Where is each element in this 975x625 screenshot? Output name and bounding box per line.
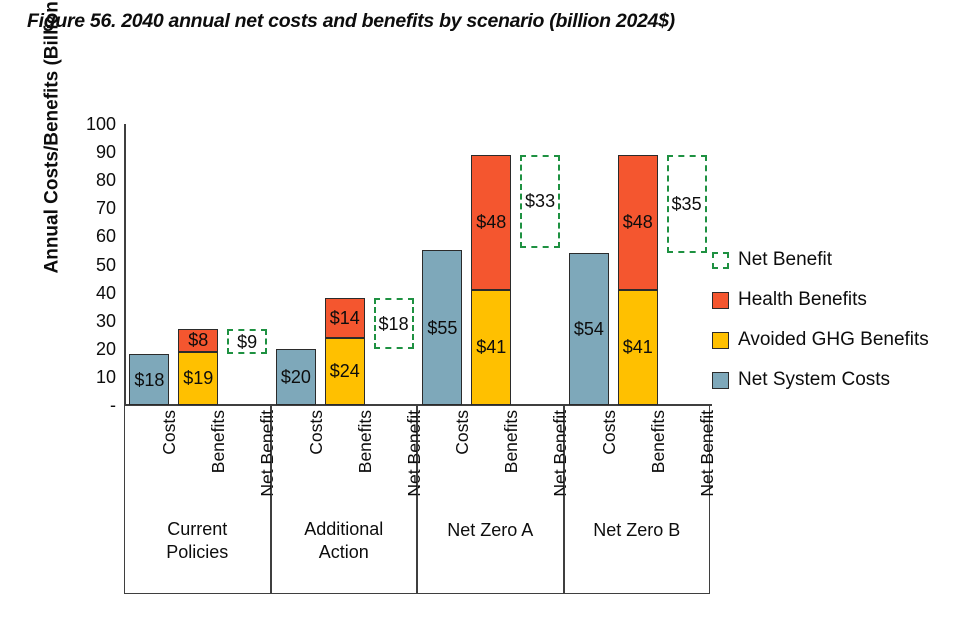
net-benefit-box: $18	[374, 298, 414, 349]
scenario-group-label-line: Action	[272, 541, 417, 564]
bar-net-system-costs: $54	[569, 253, 609, 405]
legend-label: Avoided GHG Benefits	[738, 329, 929, 351]
legend-label: Net Benefit	[738, 249, 832, 271]
chart-figure: Annual Costs/Benefits (Billion $) 100908…	[0, 0, 975, 625]
bar-net-system-costs: $20	[276, 349, 316, 405]
category-tick-label: Benefits	[207, 410, 229, 530]
legend-swatch-icon	[712, 292, 729, 309]
category-tick-label: Benefits	[500, 410, 522, 530]
scenario-group-label-line: Additional	[272, 518, 417, 541]
bar-avoided-ghg-benefits: $41	[471, 290, 511, 405]
y-axis-tick-label: 10	[56, 368, 116, 386]
bar-avoided-ghg-benefits: $41	[618, 290, 658, 405]
scenario-group-label: Net Zero A	[418, 519, 563, 542]
bar-value-label: $41	[623, 338, 653, 356]
bar-value-label: $48	[623, 213, 653, 231]
legend-swatch-icon	[712, 252, 729, 269]
y-axis-tick-label: 40	[56, 284, 116, 302]
bar-avoided-ghg-benefits: $19	[178, 352, 218, 405]
bar-value-label: $24	[330, 362, 360, 380]
net-benefit-box: $33	[520, 155, 560, 248]
scenario-group-label-line: Current	[125, 518, 270, 541]
bar-value-label: $41	[476, 338, 506, 356]
y-axis-tick-label: 50	[56, 256, 116, 274]
bar-value-label: $54	[574, 320, 604, 338]
bar-net-system-costs: $18	[129, 354, 169, 405]
y-axis-tick-label: 70	[56, 199, 116, 217]
scenario-group: CostsBenefitsNet BenefitNet Zero B	[564, 406, 711, 594]
legend-swatch-icon	[712, 332, 729, 349]
scenario-group-label-line: Policies	[125, 541, 270, 564]
category-tick-label: Benefits	[647, 410, 669, 530]
category-tick-label: Net Benefit	[696, 410, 718, 530]
bar-health-benefits: $8	[178, 329, 218, 351]
net-benefit-value-label: $33	[525, 192, 555, 210]
y-axis-tick-label: 80	[56, 171, 116, 189]
bar-avoided-ghg-benefits: $24	[325, 338, 365, 405]
y-axis-tick-label: 100	[56, 115, 116, 133]
bar-health-benefits: $14	[325, 298, 365, 337]
net-benefit-box: $35	[667, 155, 707, 253]
bar-health-benefits: $48	[618, 155, 658, 290]
legend-label: Health Benefits	[738, 289, 867, 311]
y-axis-tick-label: 60	[56, 227, 116, 245]
bar-value-label: $19	[183, 369, 213, 387]
net-benefit-box: $9	[227, 329, 267, 354]
bar-net-system-costs: $55	[422, 250, 462, 405]
plot-area: $18$19$8$9$20$24$14$18$55$41$48$33$54$41…	[124, 124, 710, 405]
scenario-group-label: AdditionalAction	[272, 518, 417, 563]
category-tick-label: Costs	[451, 410, 473, 530]
legend-item[interactable]: Net Benefit	[712, 240, 962, 280]
scenario-group: CostsBenefitsNet BenefitAdditionalAction	[271, 406, 418, 594]
y-axis-tick-label: -	[56, 396, 116, 414]
net-benefit-value-label: $9	[237, 333, 257, 351]
y-axis-tick-labels: 100908070605040302010-	[56, 112, 116, 412]
legend-label: Net System Costs	[738, 369, 890, 391]
scenario-group-label: CurrentPolicies	[125, 518, 270, 563]
y-axis-tick-label: 30	[56, 312, 116, 330]
category-tick-label: Benefits	[354, 410, 376, 530]
category-tick-label: Costs	[305, 410, 327, 530]
y-axis-tick-label: 90	[56, 143, 116, 161]
net-benefit-value-label: $18	[379, 315, 409, 333]
legend-item[interactable]: Net System Costs	[712, 360, 962, 400]
bar-value-label: $48	[476, 213, 506, 231]
chart-legend: Net BenefitHealth BenefitsAvoided GHG Be…	[712, 240, 962, 400]
bar-health-benefits: $48	[471, 155, 511, 290]
scenario-group: CostsBenefitsNet BenefitCurrentPolicies	[124, 406, 271, 594]
bar-value-label: $14	[330, 309, 360, 327]
category-tick-label: Costs	[598, 410, 620, 530]
legend-item[interactable]: Health Benefits	[712, 280, 962, 320]
bar-value-label: $8	[188, 331, 208, 349]
bar-value-label: $55	[427, 319, 457, 337]
scenario-group: CostsBenefitsNet BenefitNet Zero A	[417, 406, 564, 594]
y-axis-tick-label: 20	[56, 340, 116, 358]
scenario-group-label: Net Zero B	[565, 519, 710, 542]
legend-item[interactable]: Avoided GHG Benefits	[712, 320, 962, 360]
category-tick-label: Costs	[158, 410, 180, 530]
category-axis: CostsBenefitsNet BenefitCurrentPoliciesC…	[124, 406, 712, 594]
legend-swatch-icon	[712, 372, 729, 389]
net-benefit-value-label: $35	[672, 195, 702, 213]
bar-value-label: $18	[134, 371, 164, 389]
bar-value-label: $20	[281, 368, 311, 386]
